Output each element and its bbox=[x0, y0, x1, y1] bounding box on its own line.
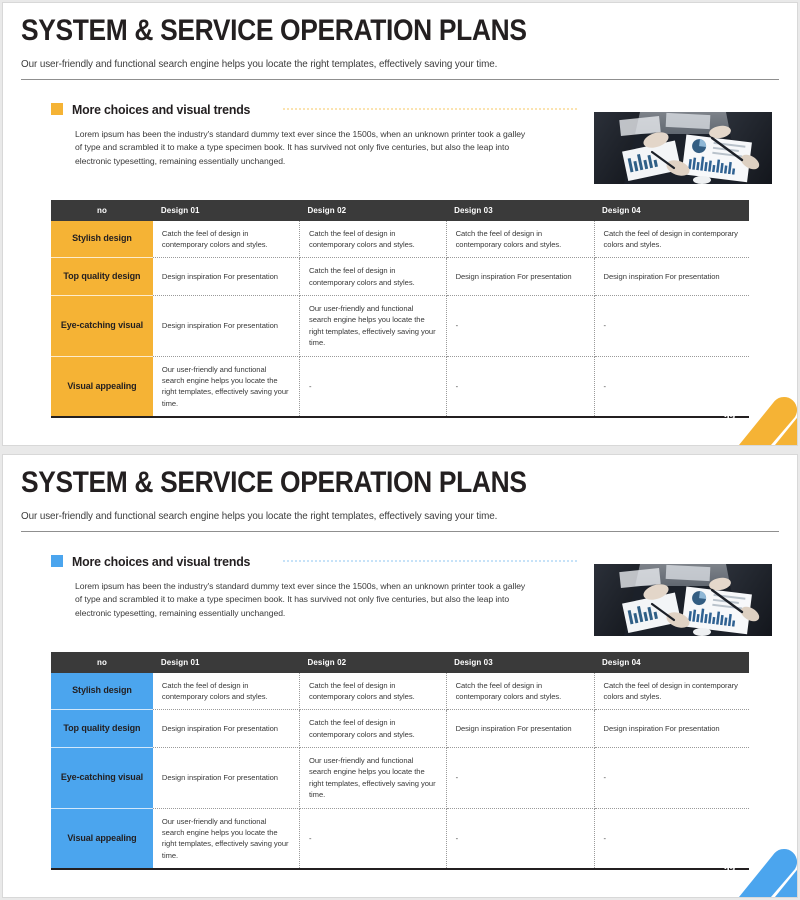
business-meeting-photo bbox=[594, 112, 772, 184]
table-row: Top quality designDesign inspiration For… bbox=[51, 710, 749, 748]
section-text-column: More choices and visual trends Lorem ips… bbox=[51, 102, 594, 170]
table-cell: - bbox=[594, 296, 749, 357]
dotted-divider bbox=[283, 560, 578, 562]
page-title: SYSTEM & SERVICE OPERATION PLANS bbox=[21, 467, 688, 499]
comparison-table: noDesign 01Design 02Design 03Design 04 S… bbox=[51, 652, 749, 871]
table-cell: - bbox=[299, 356, 446, 417]
table-cell: Catch the feel of design in contemporary… bbox=[153, 673, 300, 710]
table-row: Eye-catching visualDesign inspiration Fo… bbox=[51, 748, 749, 809]
table-cell: Design inspiration For presentation bbox=[446, 710, 594, 748]
table-head: noDesign 01Design 02Design 03Design 04 bbox=[51, 200, 749, 221]
table-cell: Catch the feel of design in contemporary… bbox=[594, 221, 749, 258]
row-label: Stylish design bbox=[51, 673, 153, 710]
dotted-divider bbox=[283, 108, 578, 110]
table-head: noDesign 01Design 02Design 03Design 04 bbox=[51, 652, 749, 673]
table-cell: - bbox=[594, 356, 749, 417]
square-bullet-icon bbox=[51, 555, 63, 567]
slide-header: SYSTEM & SERVICE OPERATION PLANS Our use… bbox=[3, 3, 797, 80]
table-cell: Our user-friendly and functional search … bbox=[153, 808, 300, 869]
table-cell: Catch the feel of design in contemporary… bbox=[594, 673, 749, 710]
page-subtitle: Our user-friendly and functional search … bbox=[21, 510, 734, 522]
table-cell: Catch the feel of design in contemporary… bbox=[299, 673, 446, 710]
table-header-cell-2: Design 02 bbox=[299, 200, 446, 221]
table-cell: Design inspiration For presentation bbox=[153, 258, 300, 296]
row-label: Top quality design bbox=[51, 710, 153, 748]
table-header-cell-3: Design 03 bbox=[446, 200, 594, 221]
table-cell: Catch the feel of design in contemporary… bbox=[299, 221, 446, 258]
slide-2: SYSTEM & SERVICE OPERATION PLANS Our use… bbox=[2, 454, 798, 898]
table-header-row: noDesign 01Design 02Design 03Design 04 bbox=[51, 652, 749, 673]
table-cell: Catch the feel of design in contemporary… bbox=[446, 221, 594, 258]
table-cell: Our user-friendly and functional search … bbox=[299, 296, 446, 357]
section-block: More choices and visual trends Lorem ips… bbox=[3, 554, 797, 636]
row-label: Eye-catching visual bbox=[51, 296, 153, 357]
table-cell: Catch the feel of design in contemporary… bbox=[299, 710, 446, 748]
table-cell: - bbox=[446, 808, 594, 869]
section-body-text: Lorem ipsum has been the industry's stan… bbox=[51, 580, 531, 622]
table-cell: - bbox=[446, 296, 594, 357]
section-title: More choices and visual trends bbox=[72, 554, 250, 569]
table-header-row: noDesign 01Design 02Design 03Design 04 bbox=[51, 200, 749, 221]
table-body: Stylish designCatch the feel of design i… bbox=[51, 221, 749, 418]
slide-header: SYSTEM & SERVICE OPERATION PLANS Our use… bbox=[3, 455, 797, 532]
row-label: Visual appealing bbox=[51, 808, 153, 869]
table-cell: Catch the feel of design in contemporary… bbox=[153, 221, 300, 258]
table-row: Stylish designCatch the feel of design i… bbox=[51, 673, 749, 710]
table-cell: Our user-friendly and functional search … bbox=[299, 748, 446, 809]
table-cell: - bbox=[446, 748, 594, 809]
section-title: More choices and visual trends bbox=[72, 102, 250, 117]
table-header-cell-3: Design 03 bbox=[446, 652, 594, 673]
table-cell: - bbox=[594, 748, 749, 809]
table-header-cell-4: Design 04 bbox=[594, 200, 749, 221]
slide-1: SYSTEM & SERVICE OPERATION PLANS Our use… bbox=[2, 2, 798, 446]
table-row: Top quality designDesign inspiration For… bbox=[51, 258, 749, 296]
table-header-cell-1: Design 01 bbox=[153, 200, 300, 221]
section-title-row: More choices and visual trends bbox=[51, 102, 580, 117]
table-row: Visual appealingOur user-friendly and fu… bbox=[51, 808, 749, 869]
table-cell: Our user-friendly and functional search … bbox=[153, 356, 300, 417]
table-cell: - bbox=[594, 808, 749, 869]
table-cell: Catch the feel of design in contemporary… bbox=[299, 258, 446, 296]
row-label: Top quality design bbox=[51, 258, 153, 296]
table-cell: Design inspiration For presentation bbox=[446, 258, 594, 296]
slide-deck-page: SYSTEM & SERVICE OPERATION PLANS Our use… bbox=[0, 0, 800, 900]
table-cell: Design inspiration For presentation bbox=[594, 710, 749, 748]
header-divider bbox=[21, 79, 779, 80]
square-bullet-icon bbox=[51, 103, 63, 115]
business-meeting-photo bbox=[594, 564, 772, 636]
table-header-cell-1: Design 01 bbox=[153, 652, 300, 673]
comparison-table-wrapper: noDesign 01Design 02Design 03Design 04 S… bbox=[3, 200, 797, 419]
section-text-column: More choices and visual trends Lorem ips… bbox=[51, 554, 594, 622]
table-header-cell-4: Design 04 bbox=[594, 652, 749, 673]
section-title-row: More choices and visual trends bbox=[51, 554, 580, 569]
page-title: SYSTEM & SERVICE OPERATION PLANS bbox=[21, 15, 688, 47]
comparison-table: noDesign 01Design 02Design 03Design 04 S… bbox=[51, 200, 749, 419]
table-row: Visual appealingOur user-friendly and fu… bbox=[51, 356, 749, 417]
comparison-table-wrapper: noDesign 01Design 02Design 03Design 04 S… bbox=[3, 652, 797, 871]
table-row: Stylish designCatch the feel of design i… bbox=[51, 221, 749, 258]
table-header-cell-0: no bbox=[51, 200, 153, 221]
table-body: Stylish designCatch the feel of design i… bbox=[51, 673, 749, 870]
table-cell: Design inspiration For presentation bbox=[153, 296, 300, 357]
row-label: Stylish design bbox=[51, 221, 153, 258]
header-divider bbox=[21, 531, 779, 532]
row-label: Visual appealing bbox=[51, 356, 153, 417]
table-cell: - bbox=[299, 808, 446, 869]
row-label: Eye-catching visual bbox=[51, 748, 153, 809]
table-cell: Catch the feel of design in contemporary… bbox=[446, 673, 594, 710]
page-subtitle: Our user-friendly and functional search … bbox=[21, 58, 734, 70]
table-header-cell-2: Design 02 bbox=[299, 652, 446, 673]
table-cell: Design inspiration For presentation bbox=[153, 748, 300, 809]
table-cell: Design inspiration For presentation bbox=[153, 710, 300, 748]
section-block: More choices and visual trends Lorem ips… bbox=[3, 102, 797, 184]
table-header-cell-0: no bbox=[51, 652, 153, 673]
table-row: Eye-catching visualDesign inspiration Fo… bbox=[51, 296, 749, 357]
table-cell: Design inspiration For presentation bbox=[594, 258, 749, 296]
table-cell: - bbox=[446, 356, 594, 417]
section-body-text: Lorem ipsum has been the industry's stan… bbox=[51, 128, 531, 170]
